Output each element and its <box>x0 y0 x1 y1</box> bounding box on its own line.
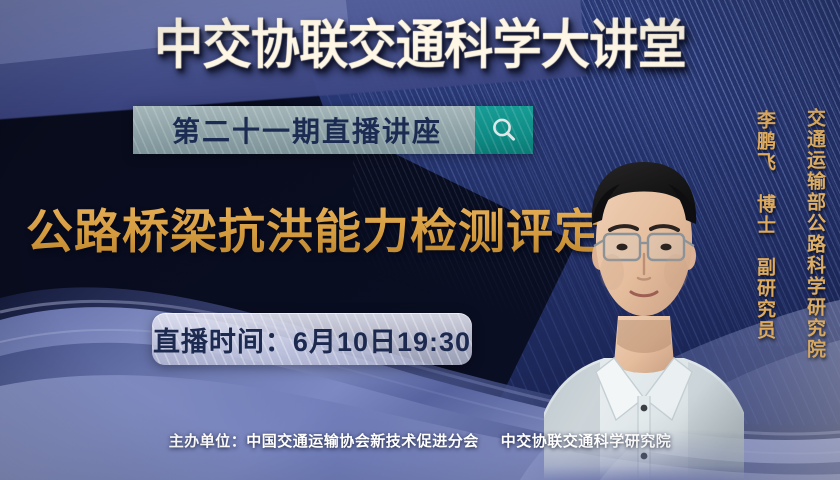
live-time-badge: 直播时间：6月10日19:30 <box>152 313 472 365</box>
speaker-name-title: 李鹏飞 博士 副研究员 <box>751 110 778 341</box>
organizer-name-2: 中交协联交通科学研究院 <box>501 433 672 450</box>
session-label: 第二十一期直播讲座 <box>133 106 475 154</box>
footer-organizers: 主办单位：中国交通运输协会新技术促进分会中交协联交通科学研究院 <box>0 430 840 451</box>
topic-title: 公路桥梁抗洪能力检测评定 <box>26 200 626 264</box>
speaker-organization: 交通运输部公路科学研究院 <box>801 108 828 360</box>
page-title: 中交协联交通科学大讲堂 <box>29 17 810 75</box>
search-icon-box[interactable] <box>475 106 533 154</box>
session-banner: 第二十一期直播讲座 <box>133 106 533 154</box>
live-stream-poster: 中交协联交通科学大讲堂 第二十一期直播讲座 公路桥梁抗洪能力检测评定 直播时间：… <box>0 0 840 480</box>
organizer-label: 主办单位： <box>169 433 247 450</box>
organizer-name-1: 中国交通运输协会新技术促进分会 <box>246 433 479 450</box>
speaker-portrait <box>544 120 744 480</box>
search-icon <box>489 115 519 145</box>
